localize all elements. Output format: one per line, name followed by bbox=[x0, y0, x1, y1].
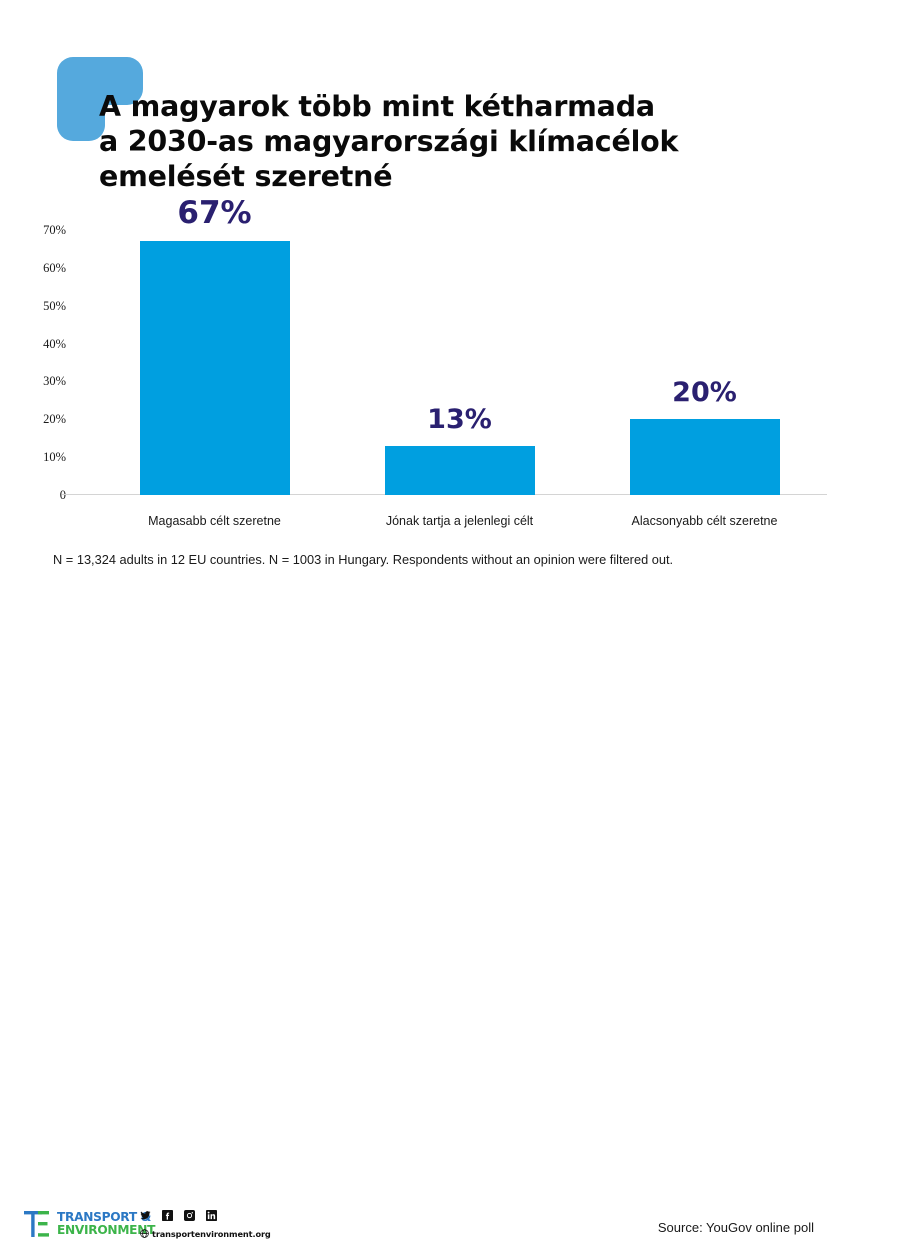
bar-value-label: 13% bbox=[365, 404, 555, 435]
x-axis-category-label: Magasabb célt szeretne bbox=[92, 514, 337, 528]
bar-value-label: 67% bbox=[120, 195, 310, 231]
y-axis-tick-label: 30% bbox=[20, 375, 66, 387]
source-text: Source: YouGov online poll bbox=[658, 1220, 814, 1235]
x-axis-category-label: Alacsonyabb célt szeretne bbox=[582, 514, 827, 528]
x-axis-category-label: Jónak tartja a jelenlegi célt bbox=[337, 514, 582, 528]
y-axis: 010%20%30%40%50%60%70% bbox=[10, 230, 66, 495]
website-url[interactable]: transportenvironment.org bbox=[152, 1229, 271, 1239]
y-axis-tick-label: 50% bbox=[20, 300, 66, 312]
transport-environment-logo: TRANSPORT & ENVIRONMENT bbox=[24, 1209, 155, 1239]
facebook-icon[interactable] bbox=[162, 1210, 173, 1221]
y-axis-tick-label: 60% bbox=[20, 262, 66, 274]
y-axis-tick-label: 20% bbox=[20, 413, 66, 425]
bar[interactable] bbox=[140, 241, 290, 495]
globe-icon bbox=[140, 1225, 149, 1243]
bar-value-label: 20% bbox=[610, 377, 800, 408]
footer: TRANSPORT & ENVIRONMENT bbox=[0, 600, 900, 660]
plot-area: 67%Magasabb célt szeretne13%Jónak tartja… bbox=[92, 230, 827, 495]
y-axis-tick-label: 10% bbox=[20, 451, 66, 463]
bar[interactable] bbox=[385, 446, 535, 495]
twitter-icon[interactable] bbox=[140, 1210, 151, 1221]
footnote-text: N = 13,324 adults in 12 EU countries. N … bbox=[53, 552, 673, 567]
te-monogram-icon bbox=[24, 1209, 52, 1239]
linkedin-icon[interactable] bbox=[206, 1210, 217, 1221]
bar[interactable] bbox=[630, 419, 780, 495]
instagram-icon[interactable] bbox=[184, 1210, 195, 1221]
y-axis-tick-label: 70% bbox=[20, 224, 66, 236]
social-links: transportenvironment.org bbox=[140, 1208, 271, 1243]
y-axis-tick-label: 40% bbox=[20, 338, 66, 350]
y-axis-tick-label: 0 bbox=[20, 489, 66, 501]
